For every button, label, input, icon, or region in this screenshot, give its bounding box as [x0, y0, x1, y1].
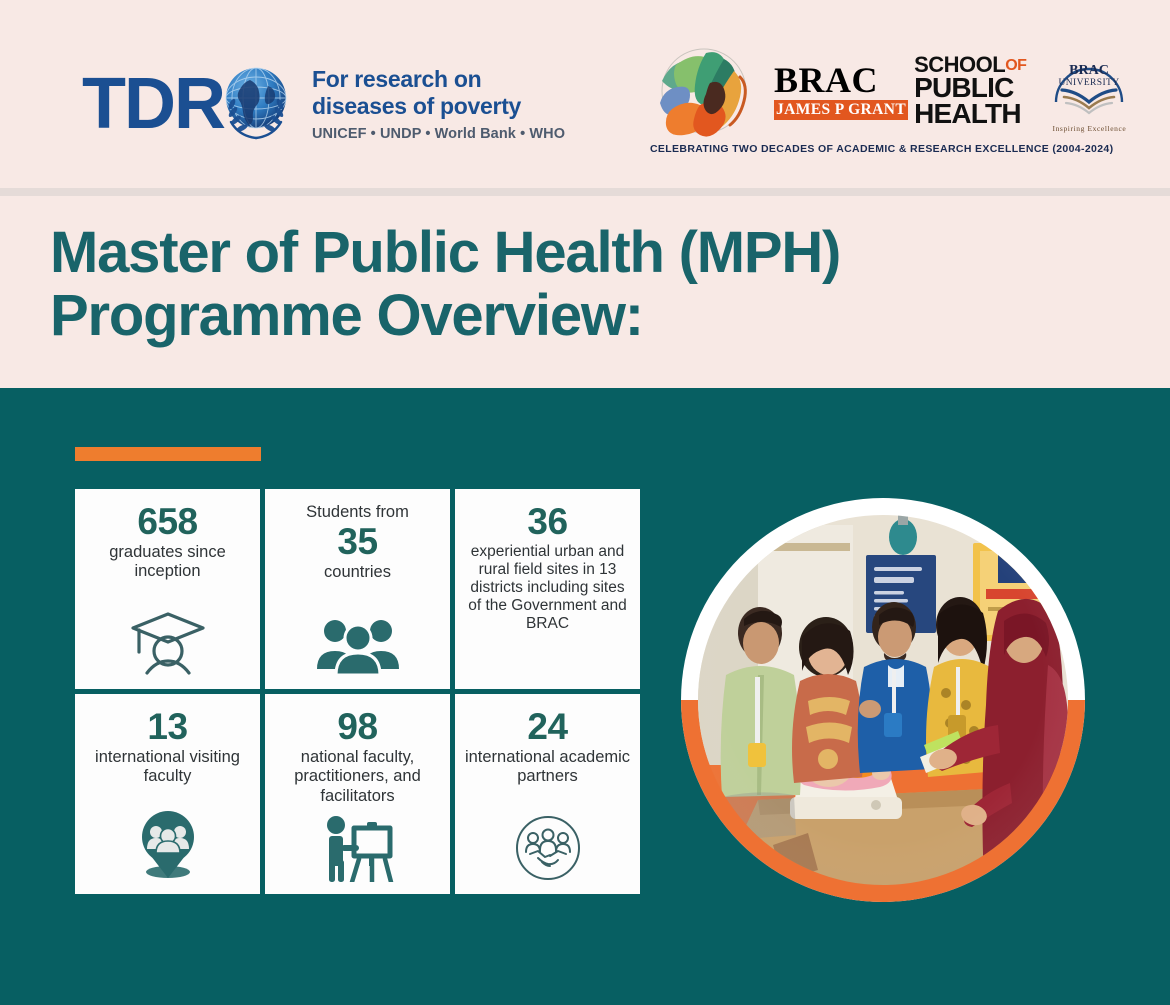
svg-text:UNIVERSITY: UNIVERSITY [1059, 78, 1120, 88]
stat-card-field-sites: 36 experiential urban and rural field si… [455, 489, 640, 689]
stat-card-academic-partners: 24 international academic partners [455, 694, 640, 894]
stat-label: national faculty, practitioners, and fac… [274, 748, 441, 806]
brac-jpgsph-logo: BRAC JAMES P GRANT SCHOOLOF PUBLIC HEALT… [648, 45, 1132, 155]
tdr-wordmark: TDR [82, 72, 224, 137]
svg-text:BRAC: BRAC [1070, 63, 1110, 78]
james-p-grant-label: JAMES P GRANT [774, 100, 908, 120]
tdr-logo: TDR [82, 58, 565, 150]
people-group-icon [315, 605, 401, 677]
brac-university-tagline: Inspiring Excellence [1046, 124, 1132, 133]
stat-number: 35 [337, 523, 377, 560]
stat-label: experiential urban and rural field sites… [464, 543, 631, 633]
location-pin-people-icon [129, 800, 207, 882]
stat-label: international visiting faculty [84, 748, 251, 787]
stat-number: 36 [527, 503, 567, 540]
programme-photo [681, 498, 1085, 902]
stat-number: 98 [337, 708, 377, 745]
brac-20-years-icon [648, 45, 766, 137]
stat-card-graduates: 658 graduates since inception [75, 489, 260, 689]
health-word: HEALTH [914, 101, 1026, 127]
page-title: Master of Public Health (MPH) Programme … [50, 222, 1030, 347]
presenter-whiteboard-icon [321, 808, 395, 882]
tdr-tagline-line1: For research on [312, 66, 565, 93]
stat-card-national-faculty: 98 national faculty, practitioners, and … [265, 694, 450, 894]
stat-number: 24 [527, 708, 567, 745]
handshake-partners-circle-icon [514, 808, 582, 882]
header-divider [0, 188, 1170, 196]
stats-grid: 658 graduates since inception Students f… [75, 489, 641, 898]
brac-jpg-name: BRAC JAMES P GRANT [774, 62, 908, 120]
tdr-tagline: For research on diseases of poverty UNIC… [312, 66, 565, 142]
of-word: OF [1005, 57, 1026, 74]
tdr-tagline-line2: diseases of poverty [312, 93, 565, 120]
brac-celebrating-text: CELEBRATING TWO DECADES OF ACADEMIC & RE… [650, 143, 1113, 155]
stat-prefix: Students from [306, 503, 409, 523]
brac-university-seal: BRAC UNIVERSITY Inspiring Excellence [1046, 50, 1132, 133]
tdr-partners: UNICEF • UNDP • World Bank • WHO [312, 126, 565, 142]
stat-label: graduates since inception [84, 543, 251, 582]
stat-number: 13 [147, 708, 187, 745]
header-logo-band: TDR [0, 0, 1170, 188]
stat-label: countries [324, 563, 391, 582]
stat-card-visiting-faculty: 13 international visiting faculty [75, 694, 260, 894]
tdr-globe-laurel-icon [212, 58, 304, 150]
page-title-line2: Programme Overview: [50, 285, 1030, 348]
stat-label: international academic partners [464, 748, 631, 787]
brac-wordmark: BRAC [774, 62, 908, 98]
stat-number: 658 [137, 503, 197, 540]
page-title-line1: Master of Public Health (MPH) [50, 222, 1030, 285]
stat-card-countries: Students from 35 countries [265, 489, 450, 689]
photo-image [698, 515, 1068, 885]
graduation-cap-icon [127, 601, 209, 677]
orange-accent-bar [75, 447, 261, 461]
brac-university-book-seal-icon: BRAC UNIVERSITY [1046, 50, 1132, 116]
school-of-public-health-name: SCHOOLOF PUBLIC HEALTH [914, 55, 1026, 128]
